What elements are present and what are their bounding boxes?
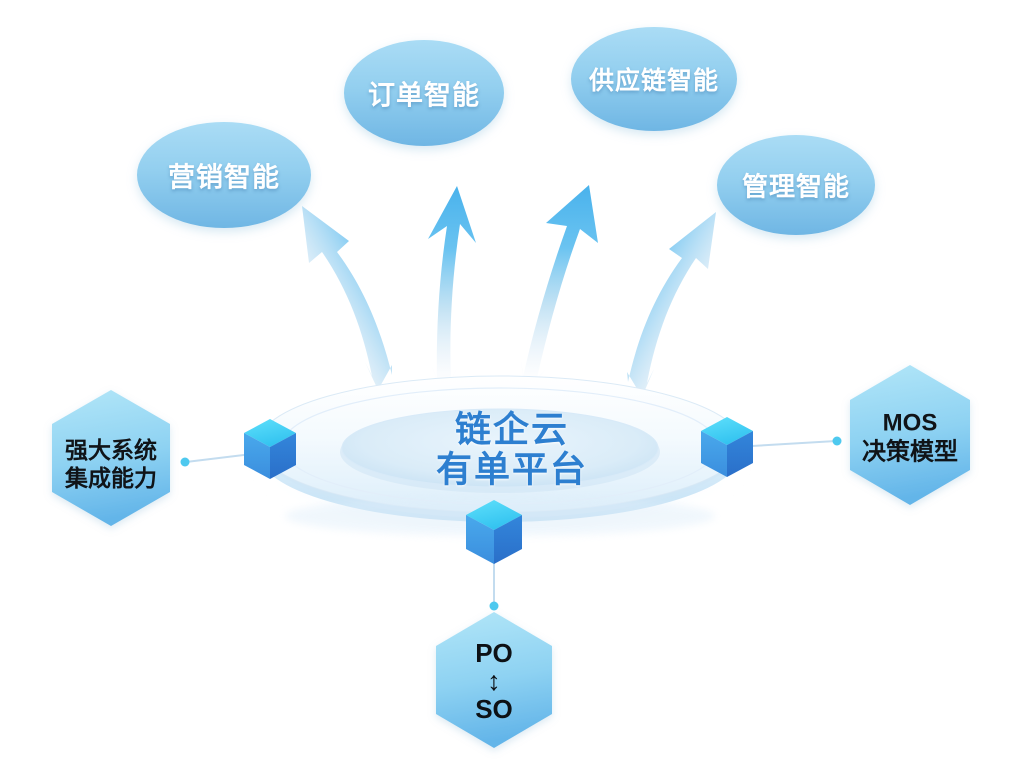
bubble-management[interactable] — [717, 135, 875, 235]
connector-dot-system-integration — [181, 458, 190, 467]
bubble-supply[interactable] — [571, 27, 737, 131]
connector-dot-po-so — [490, 602, 499, 611]
hexagon-mos-decision-model[interactable] — [850, 365, 970, 505]
arrow-to-marketing-icon — [302, 206, 392, 390]
connector-dot-mos-decision-model — [833, 437, 842, 446]
bubble-group — [137, 27, 875, 235]
hexagon-po-so[interactable] — [436, 612, 552, 748]
connector-line-mos-decision-model — [752, 441, 836, 446]
hexagon-system-integration[interactable] — [52, 390, 170, 526]
arrow-to-management-icon — [627, 212, 716, 397]
arrow-group — [302, 185, 716, 397]
diagram-scene — [0, 0, 1016, 768]
bubble-order[interactable] — [344, 40, 504, 146]
diagram-canvas: 营销智能 订单智能 供应链智能 管理智能 链企云 有单平台 强大系统 集成能力 … — [0, 0, 1016, 768]
bubble-marketing[interactable] — [137, 122, 311, 228]
arrow-to-supply-icon — [521, 185, 598, 392]
arrow-to-order-icon — [428, 186, 476, 396]
